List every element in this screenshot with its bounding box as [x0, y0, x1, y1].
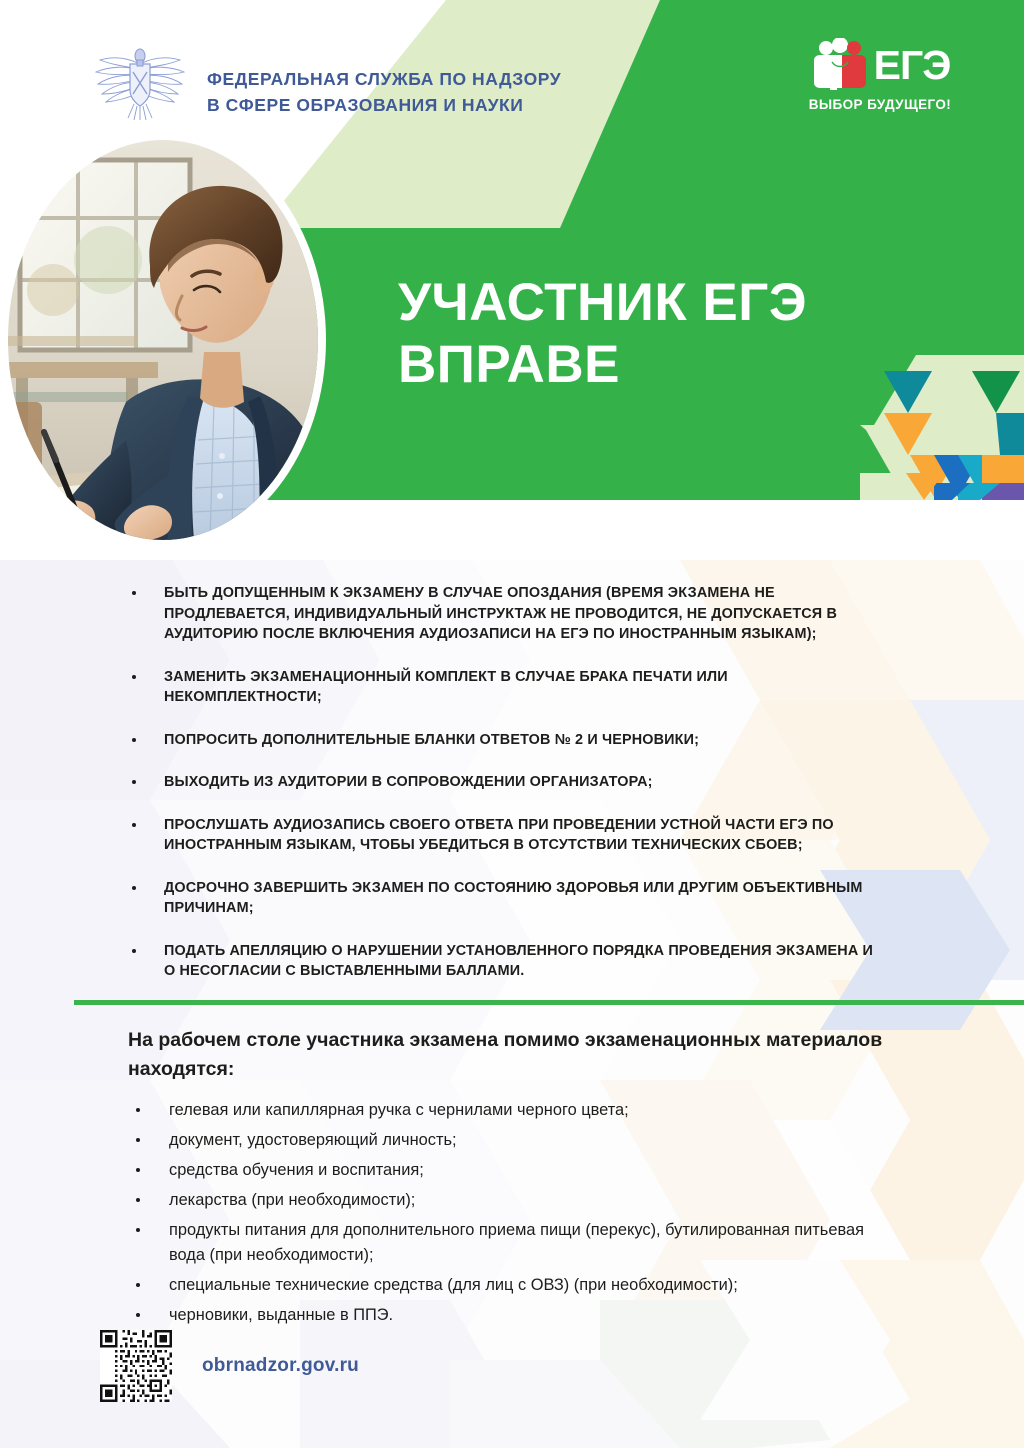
poster-page: ФЕДЕРАЛЬНАЯ СЛУЖБА ПО НАДЗОРУ В СФЕРЕ ОБ…: [0, 0, 1024, 1448]
list-item: ВЫХОДИТЬ ИЗ АУДИТОРИИ В СОПРОВОЖДЕНИИ ОР…: [128, 772, 873, 793]
list-item: ДОСРОЧНО ЗАВЕРШИТЬ ЭКЗАМЕН ПО СОСТОЯНИЮ …: [128, 878, 873, 919]
list-item: ПРОСЛУШАТЬ АУДИОЗАПИСЬ СВОЕГО ОТВЕТА ПРИ…: [128, 815, 873, 856]
list-item: специальные технические средства (для ли…: [128, 1273, 888, 1298]
list-item: лекарства (при необходимости);: [128, 1188, 888, 1213]
list-item: ЗАМЕНИТЬ ЭКЗАМЕНАЦИОННЫЙ КОМПЛЕКТ В СЛУЧ…: [128, 667, 873, 708]
desk-section-heading: На рабочем столе участника экзамена поми…: [128, 1026, 888, 1084]
list-item: ПОПРОСИТЬ ДОПОЛНИТЕЛЬНЫЕ БЛАНКИ ОТВЕТОВ …: [128, 730, 873, 751]
ege-letters: ЕГЭ: [874, 43, 951, 87]
poster-header: ФЕДЕРАЛЬНАЯ СЛУЖБА ПО НАДЗОРУ В СФЕРЕ ОБ…: [0, 0, 1024, 150]
organization-name: ФЕДЕРАЛЬНАЯ СЛУЖБА ПО НАДЗОРУ В СФЕРЕ ОБ…: [207, 66, 561, 118]
student-writing-exam-photo: [8, 140, 318, 540]
list-item: продукты питания для дополнительного при…: [128, 1218, 888, 1268]
qr-code-icon[interactable]: [100, 1330, 172, 1402]
list-item: черновики, выданные в ППЭ.: [128, 1303, 888, 1328]
rosobrnadzor-eagle-emblem-icon: [88, 44, 192, 120]
list-item: документ, удостоверяющий личность;: [128, 1128, 888, 1153]
rights-list: БЫТЬ ДОПУЩЕННЫМ К ЭКЗАМЕНУ В СЛУЧАЕ ОПОЗ…: [128, 583, 873, 1004]
desk-list: гелевая или капиллярная ручка с чернилам…: [128, 1098, 888, 1328]
ege-logo: ЕГЭ ВЫБОР БУДУЩЕГО!: [800, 38, 960, 138]
list-item: ПОДАТЬ АПЕЛЛЯЦИЮ О НАРУШЕНИИ УСТАНОВЛЕНН…: [128, 941, 873, 982]
list-item: гелевая или капиллярная ручка с чернилам…: [128, 1098, 888, 1123]
website-link[interactable]: obrnadzor.gov.ru: [202, 1355, 359, 1377]
ege-people-mark-icon: [810, 38, 870, 92]
poster-footer: obrnadzor.gov.ru: [100, 1330, 359, 1402]
ege-tagline: ВЫБОР БУДУЩЕГО!: [800, 97, 960, 112]
desk-items-section: На рабочем столе участника экзамена поми…: [128, 1026, 888, 1333]
list-item: средства обучения и воспитания;: [128, 1158, 888, 1183]
list-item: БЫТЬ ДОПУЩЕННЫМ К ЭКЗАМЕНУ В СЛУЧАЕ ОПОЗ…: [128, 583, 873, 645]
section-divider: [74, 1000, 1024, 1005]
page-title: УЧАСТНИК ЕГЭ ВПРАВЕ: [398, 272, 918, 396]
